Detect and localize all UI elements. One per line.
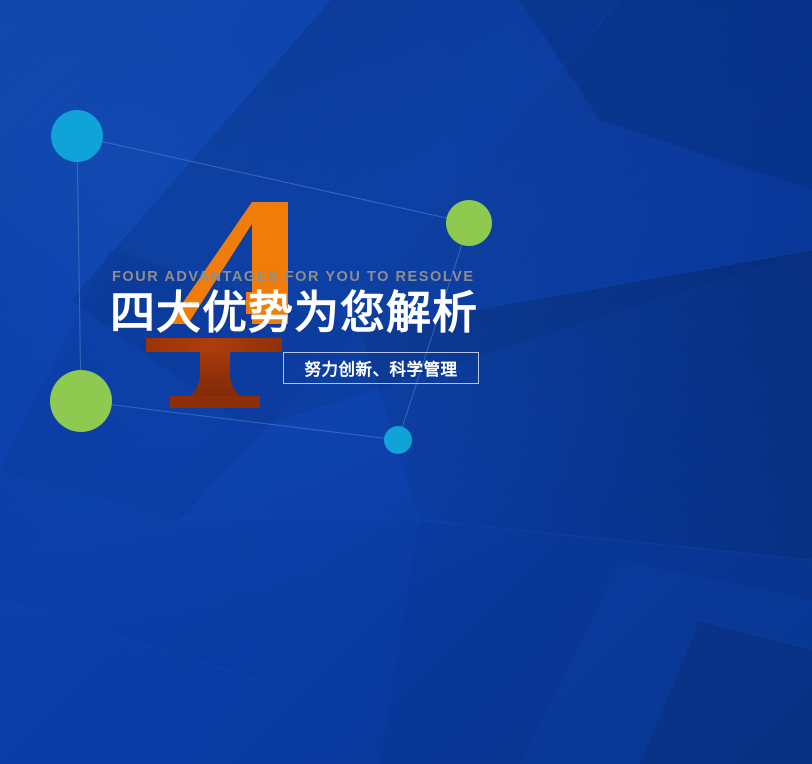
tagline-text: 努力创新、科学管理 [305, 356, 458, 380]
link-topleft-to-bottomgreen [77, 136, 81, 401]
tagline-badge: 努力创新、科学管理 [283, 352, 479, 384]
pedestal-ornament [146, 338, 282, 408]
node-top-left [51, 110, 103, 162]
hero-banner: FOUR ADVANTAGES FOR YOU TO RESOLVE 四大优势为… [0, 0, 812, 764]
hero-content: FOUR ADVANTAGES FOR YOU TO RESOLVE 四大优势为… [112, 196, 512, 416]
node-bottom-green [50, 370, 112, 432]
node-bottom-cyan [384, 426, 412, 454]
hero-eyebrow: FOUR ADVANTAGES FOR YOU TO RESOLVE [112, 270, 475, 285]
hero-title: 四大优势为您解析 [110, 288, 478, 338]
